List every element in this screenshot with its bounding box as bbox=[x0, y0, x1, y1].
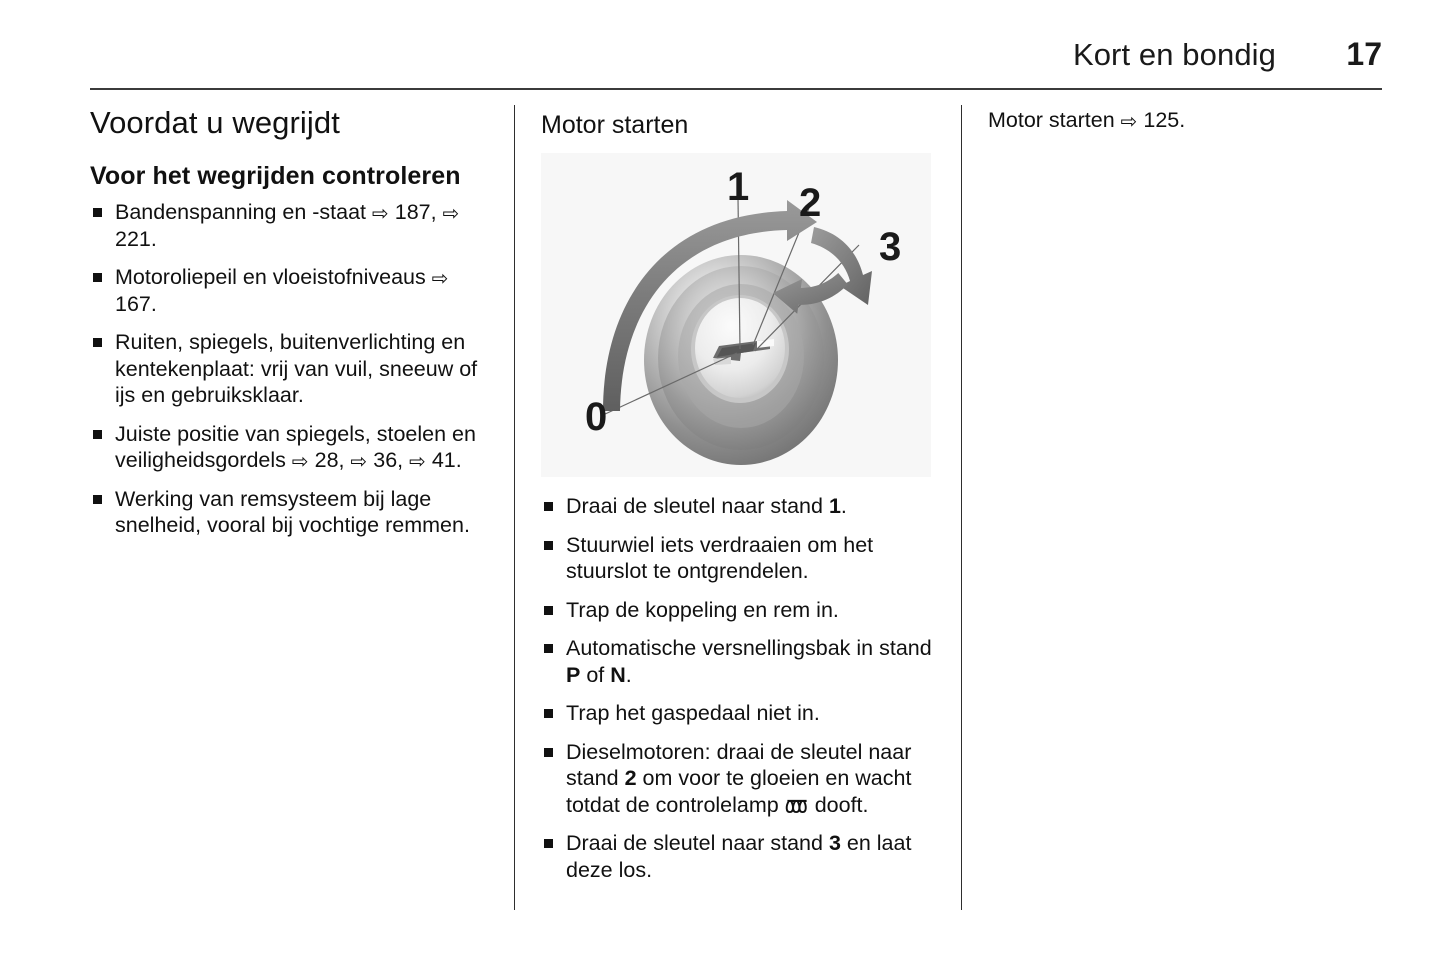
bullet-square-icon bbox=[93, 273, 102, 282]
list-item-text: Trap de koppeling en rem in. bbox=[566, 598, 839, 622]
list-item: Motoroliepeil en vloeistofniveaus ⇨ 167. bbox=[90, 264, 490, 317]
header-divider bbox=[90, 88, 1382, 90]
page-header: Kort en bondig 17 bbox=[90, 22, 1382, 70]
list-item: Werking van remsysteem bij lage snelheid… bbox=[90, 486, 490, 539]
section-title: Voordat u wegrijdt bbox=[90, 105, 490, 141]
list-item-text: Bandenspanning en -staat ⇨ 187, ⇨ 221. bbox=[115, 200, 459, 251]
list-item: Trap de koppeling en rem in. bbox=[541, 597, 943, 624]
bullet-square-icon bbox=[93, 430, 102, 439]
list-item-text: Motoroliepeil en vloeistofniveaus ⇨ 167. bbox=[115, 265, 448, 316]
page-reference-arrow-icon: ⇨ bbox=[443, 201, 460, 225]
list-item-text: Dieselmotoren: draai de sleutel naar sta… bbox=[566, 740, 911, 817]
list-item-text: Werking van remsysteem bij lage snelheid… bbox=[115, 487, 470, 538]
bullet-square-icon bbox=[544, 748, 553, 757]
list-item-text: Trap het gaspedaal niet in. bbox=[566, 701, 820, 725]
cross-reference-text: Motor starten ⇨ 125. bbox=[988, 107, 1382, 134]
bullet-square-icon bbox=[93, 208, 102, 217]
bullet-square-icon bbox=[93, 338, 102, 347]
page-reference-arrow-icon: ⇨ bbox=[1121, 109, 1138, 133]
list-item: Draai de sleutel naar stand 1. bbox=[541, 493, 943, 520]
column-three: Motor starten ⇨ 125. bbox=[988, 105, 1382, 134]
column-one: Voordat u wegrijdt Voor het wegrijden co… bbox=[90, 105, 490, 539]
bullet-square-icon bbox=[544, 502, 553, 511]
list-item-text: Draai de sleutel naar stand 3 en laat de… bbox=[566, 831, 911, 882]
list-item: Trap het gaspedaal niet in. bbox=[541, 700, 943, 727]
ignition-switch-illustration: 0 1 2 3 bbox=[541, 153, 931, 477]
page-number: 17 bbox=[1338, 38, 1382, 70]
list-item-text: Stuurwiel iets verdraaien om het stuursl… bbox=[566, 533, 873, 584]
page-reference-arrow-icon: ⇨ bbox=[372, 201, 389, 225]
list-item-text: Draai de sleutel naar stand 1. bbox=[566, 494, 847, 518]
glow-plug-indicator-icon bbox=[785, 797, 809, 816]
column-two: Motor starten bbox=[541, 105, 943, 883]
manual-page: Kort en bondig 17 Voordat u wegrijdt Voo… bbox=[0, 0, 1445, 965]
page-reference-arrow-icon: ⇨ bbox=[292, 449, 309, 473]
bullet-square-icon bbox=[544, 644, 553, 653]
list-item-text: Juiste positie van spiegels, stoelen en … bbox=[115, 422, 476, 474]
bullet-square-icon bbox=[93, 495, 102, 504]
checklist-before-driving: Bandenspanning en -staat ⇨ 187, ⇨ 221. M… bbox=[90, 199, 490, 539]
figure-label-3: 3 bbox=[879, 225, 901, 269]
list-item: Dieselmotoren: draai de sleutel naar sta… bbox=[541, 739, 943, 819]
list-item-text: Automatische versnellingsbak in stand P … bbox=[566, 636, 932, 687]
subsection-title: Voor het wegrijden controleren bbox=[90, 161, 490, 191]
bullet-square-icon bbox=[544, 839, 553, 848]
page-reference-arrow-icon: ⇨ bbox=[409, 449, 426, 473]
page-reference-arrow-icon: ⇨ bbox=[432, 266, 449, 290]
figure-label-2: 2 bbox=[799, 181, 821, 225]
page-reference-arrow-icon: ⇨ bbox=[351, 449, 368, 473]
figure-label-1: 1 bbox=[727, 165, 749, 209]
list-item-text: Ruiten, spiegels, buitenverlichting en k… bbox=[115, 330, 477, 407]
column-separator-1 bbox=[514, 105, 515, 910]
list-item: Bandenspanning en -staat ⇨ 187, ⇨ 221. bbox=[90, 199, 490, 252]
engine-start-heading: Motor starten bbox=[541, 110, 943, 140]
content-columns: Voordat u wegrijdt Voor het wegrijden co… bbox=[0, 105, 1445, 915]
page-title: Kort en bondig bbox=[1073, 39, 1276, 70]
list-item: Juiste positie van spiegels, stoelen en … bbox=[90, 421, 490, 474]
list-item: Draai de sleutel naar stand 3 en laat de… bbox=[541, 830, 943, 883]
column-separator-2 bbox=[961, 105, 962, 910]
engine-start-steps: Draai de sleutel naar stand 1. Stuurwiel… bbox=[541, 493, 943, 883]
list-item: Stuurwiel iets verdraaien om het stuursl… bbox=[541, 532, 943, 585]
list-item: Automatische versnellingsbak in stand P … bbox=[541, 635, 943, 688]
figure-label-0: 0 bbox=[585, 395, 607, 439]
list-item: Ruiten, spiegels, buitenverlichting en k… bbox=[90, 329, 490, 409]
bullet-square-icon bbox=[544, 709, 553, 718]
bullet-square-icon bbox=[544, 606, 553, 615]
ignition-switch-figure: 0 1 2 3 bbox=[541, 153, 931, 477]
bullet-square-icon bbox=[544, 541, 553, 550]
